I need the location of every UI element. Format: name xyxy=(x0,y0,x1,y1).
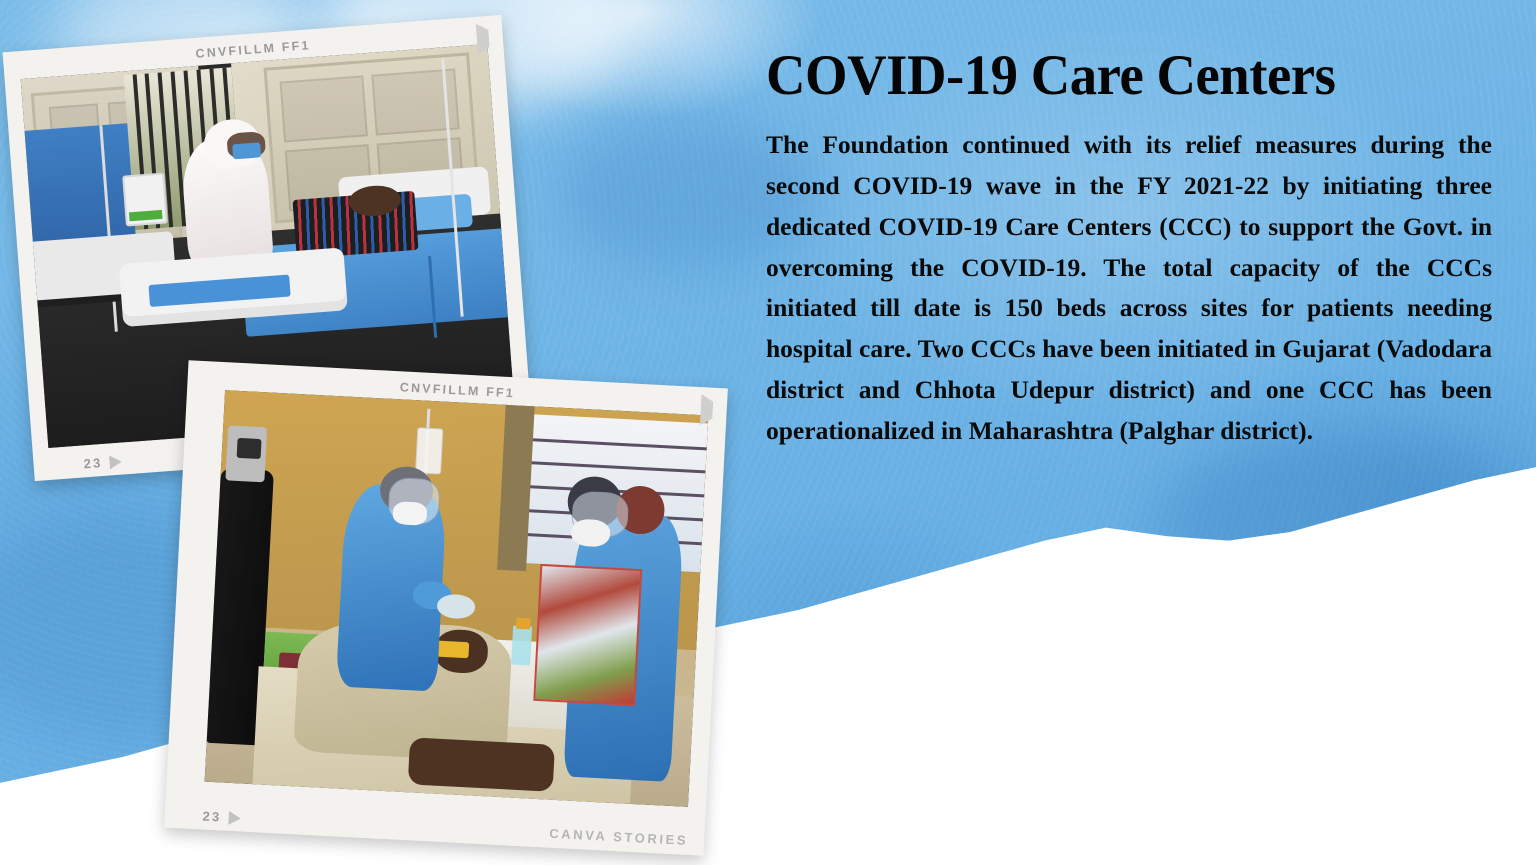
frame-number-1: 23 xyxy=(83,455,103,471)
play-triangle-icon xyxy=(476,23,490,55)
film-advance-marker-2 xyxy=(700,401,713,420)
photo-frame-2[interactable]: CNVFILLM FF1 xyxy=(164,360,728,856)
slide-canvas: CNVFILLM FF1 xyxy=(0,0,1536,865)
canva-watermark: CANVA STORIES xyxy=(549,826,689,848)
watercolor-blotch-dark-right xyxy=(1150,430,1536,630)
information-booklet xyxy=(534,564,643,706)
play-triangle-icon xyxy=(228,810,241,825)
patient-arm xyxy=(408,737,555,792)
health-worker-1-n95-mask xyxy=(393,501,428,526)
film-frame-counter-1: 23 xyxy=(83,454,122,472)
play-triangle-icon xyxy=(109,454,122,469)
text-column: COVID-19 Care Centers The Foundation con… xyxy=(766,46,1492,452)
frame-number-2: 23 xyxy=(202,809,222,825)
oxygen-cylinder-valve xyxy=(236,438,261,459)
iv-drip-bag xyxy=(415,428,444,474)
health-worker-2-n95-mask xyxy=(571,518,611,547)
patient-oxygen-mask xyxy=(434,641,469,658)
body-paragraph: The Foundation continued with its relief… xyxy=(766,125,1492,451)
sanitizer-bottle xyxy=(511,625,532,665)
film-frame-counter-2: 23 xyxy=(202,809,241,826)
photo-image-2 xyxy=(205,390,709,807)
play-triangle-icon xyxy=(700,394,714,426)
page-title: COVID-19 Care Centers xyxy=(766,46,1463,105)
ppe-worker-mask xyxy=(232,143,261,160)
film-advance-marker-1 xyxy=(476,30,489,49)
sanitizer-bottle-cap xyxy=(515,617,530,629)
